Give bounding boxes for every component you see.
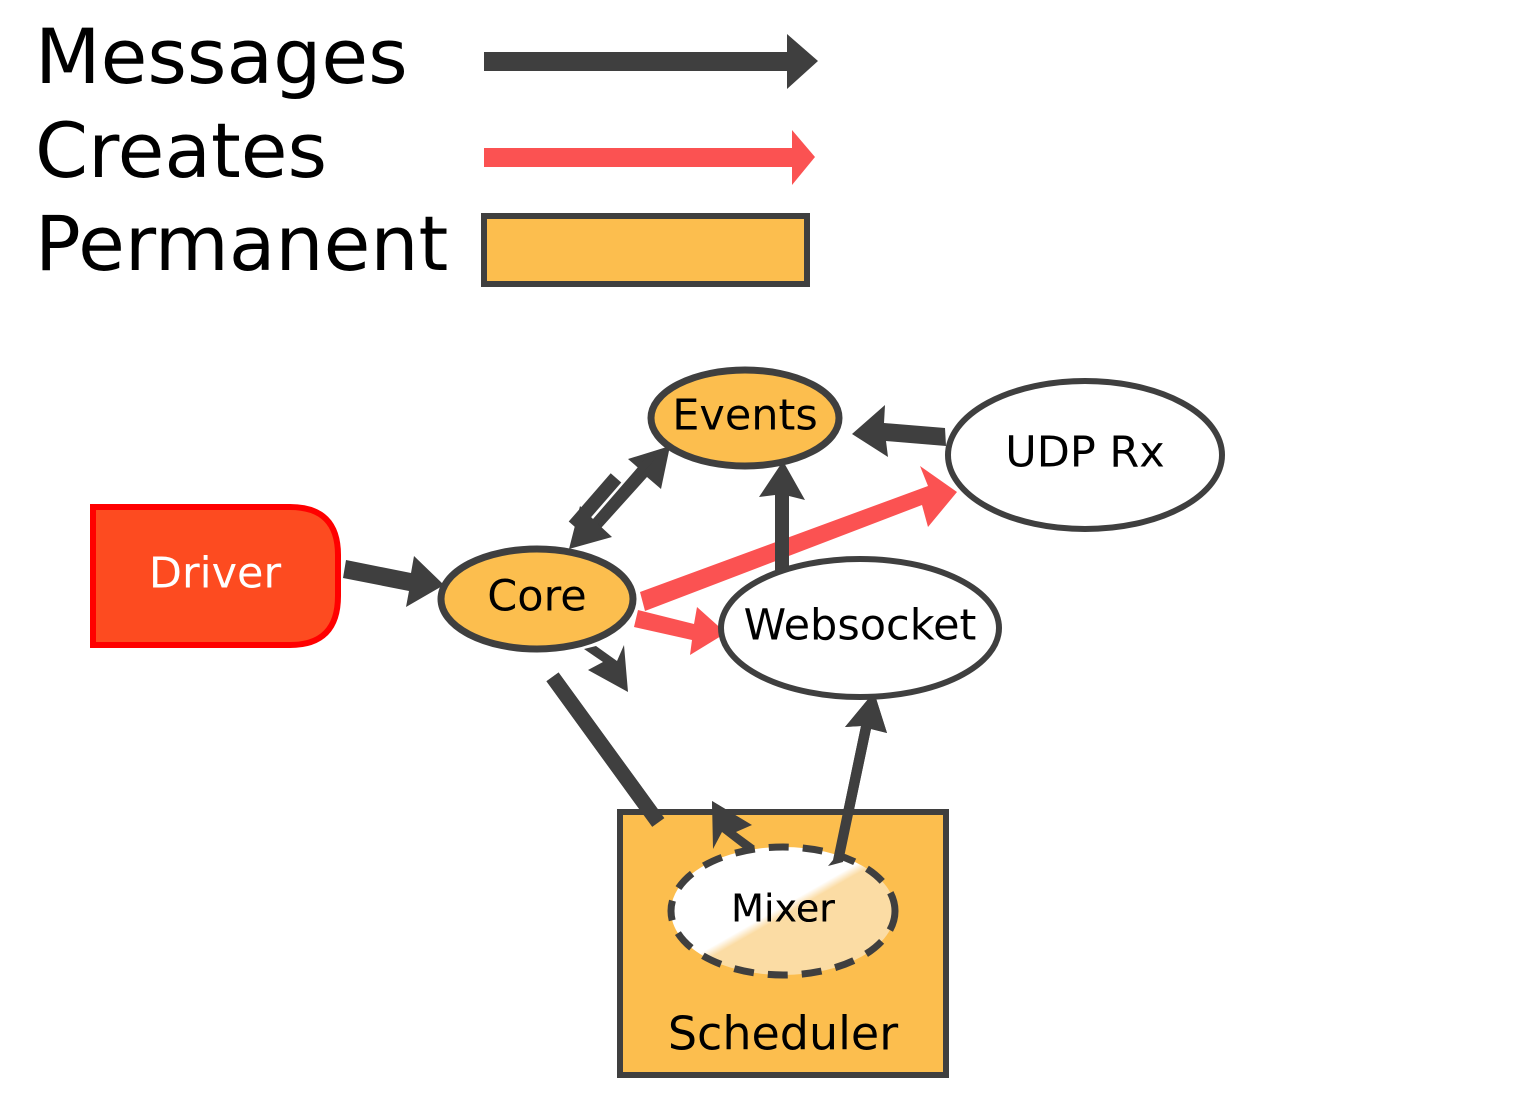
node-driver[interactable]: Driver: [93, 507, 338, 645]
node-websocket[interactable]: Websocket: [721, 559, 999, 697]
legend-label-permanent: Permanent: [35, 199, 448, 288]
legend-item-permanent: Permanent: [35, 199, 807, 288]
driver-label: Driver: [149, 549, 282, 599]
node-core[interactable]: Core: [441, 549, 633, 649]
websocket-label: Websocket: [744, 601, 977, 651]
node-mixer-front: Mixer: [731, 887, 835, 931]
mixer-label-front: Mixer: [731, 887, 835, 931]
architecture-diagram: Messages Creates Permanent: [0, 0, 1525, 1096]
legend: Messages Creates Permanent: [35, 12, 818, 288]
scheduler-label: Scheduler: [668, 1007, 898, 1061]
node-udprx[interactable]: UDP Rx: [948, 381, 1222, 529]
edge-core-events: [569, 446, 670, 549]
edge-core-to-websocket: [634, 607, 726, 655]
diagram-canvas: Messages Creates Permanent: [0, 0, 1525, 1096]
arrow-right-icon: [484, 130, 815, 185]
legend-label-creates: Creates: [35, 106, 327, 195]
edge-driver-to-core: [343, 556, 444, 607]
legend-item-creates: Creates: [35, 106, 815, 195]
node-events[interactable]: Events: [651, 370, 839, 466]
edge-udprx-to-events: [852, 405, 946, 457]
udprx-label: UDP Rx: [1005, 428, 1165, 478]
legend-label-messages: Messages: [35, 12, 408, 101]
rectangle-swatch-icon: [484, 216, 807, 284]
arrow-right-icon: [484, 34, 818, 89]
events-label: Events: [672, 391, 818, 441]
legend-item-messages: Messages: [35, 12, 818, 101]
core-label: Core: [487, 572, 587, 622]
